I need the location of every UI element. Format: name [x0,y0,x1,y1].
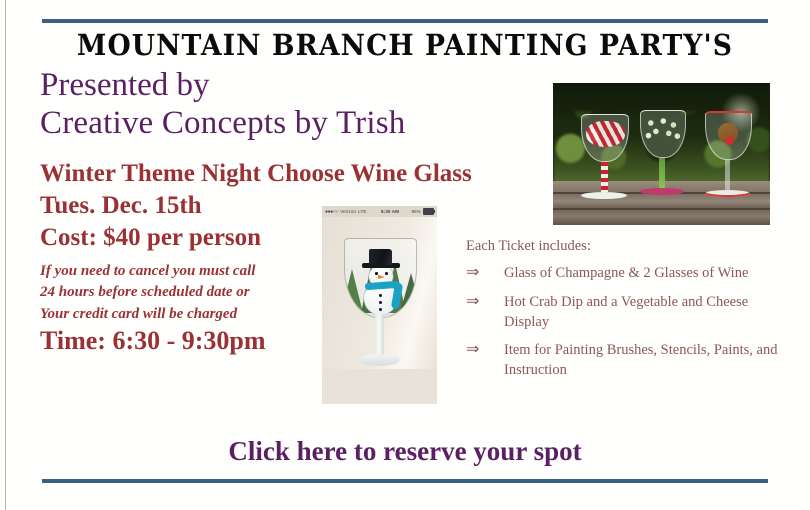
presented-by-line: Presented by [40,66,405,104]
glass-stem [659,158,665,188]
presenter-name-line: Creative Concepts by Trish [40,104,405,142]
list-item: ⇒ Item for Painting Brushes, Stencils, P… [466,340,796,380]
cancellation-policy: If you need to cancel you must call 24 h… [40,261,255,325]
holly-glass [640,110,684,195]
battery-icon [423,208,434,215]
ticket-includes-block: Each Ticket includes: ⇒ Glass of Champag… [466,236,796,388]
pine-tree-icon [400,273,417,313]
list-item: ⇒ Glass of Champagne & 2 Glasses of Wine [466,263,796,284]
glass-foot [640,188,684,195]
painted-glasses-photo [553,83,770,225]
signal-strength-icon: ●●●○○ [325,209,338,215]
glass-foot [705,190,750,197]
network-label: LTE [358,209,366,214]
snowman-button [379,308,382,311]
photo-countertop [322,369,437,404]
phone-status-bar: ●●●○○ Verizon LTE 8:30 AM 96% [322,206,437,217]
snowman-eye [385,272,388,275]
carrier-label: Verizon [340,209,356,214]
double-arrow-icon: ⇒ [466,340,504,361]
double-arrow-icon: ⇒ [466,292,504,313]
list-item: ⇒ Hot Crab Dip and a Vegetable and Chees… [466,292,796,332]
glass-foot [581,192,627,199]
page-title: Mountain Branch Painting Party's [0,28,810,62]
glass-stem [725,160,730,190]
snowman-carrot-nose [378,275,385,279]
list-item-label: Item for Painting Brushes, Stencils, Pai… [504,340,796,380]
glass-paint-design [643,116,682,145]
snowman-hat-top [369,249,392,265]
policy-line-2: 24 hours before scheduled date or [40,282,255,303]
double-arrow-icon: ⇒ [466,263,504,284]
glass-bowl [640,110,686,158]
snowman-button [379,294,382,297]
glass-bowl [581,114,629,162]
glass-paint-accent [725,136,734,145]
snowman-glass-bowl [344,238,417,318]
candy-cane-glass [581,114,627,199]
event-time-line: Time: 6:30 - 9:30pm [40,326,266,356]
ticket-includes-heading: Each Ticket includes: [466,236,796,256]
status-bar-clock: 8:30 AM [381,209,399,214]
glass-paint-design [586,121,625,147]
list-item-label: Hot Crab Dip and a Vegetable and Cheese … [504,292,796,332]
reserve-spot-link[interactable]: Click here to reserve your spot [0,436,810,467]
policy-line-1: If you need to cancel you must call [40,261,255,282]
bottom-divider-rule [42,479,768,483]
list-item-label: Glass of Champagne & 2 Glasses of Wine [504,263,796,283]
event-theme-line: Winter Theme Night Choose Wine Glass [40,158,472,190]
page-left-edge [5,0,6,510]
snowman-button [379,301,382,304]
snowman-glass-photo: ●●●○○ Verizon LTE 8:30 AM 96% [322,206,437,404]
glass-bowl [705,111,752,160]
presenter-block: Presented by Creative Concepts by Trish [40,66,405,143]
battery-percent-label: 96% [412,209,422,214]
reindeer-glass [705,111,750,197]
snowman-glass-foot [359,354,400,366]
snowman-glass-stem [375,314,384,358]
top-divider-rule [42,19,768,23]
glass-stem [601,162,608,192]
policy-line-3: Your credit card will be charged [40,304,255,325]
